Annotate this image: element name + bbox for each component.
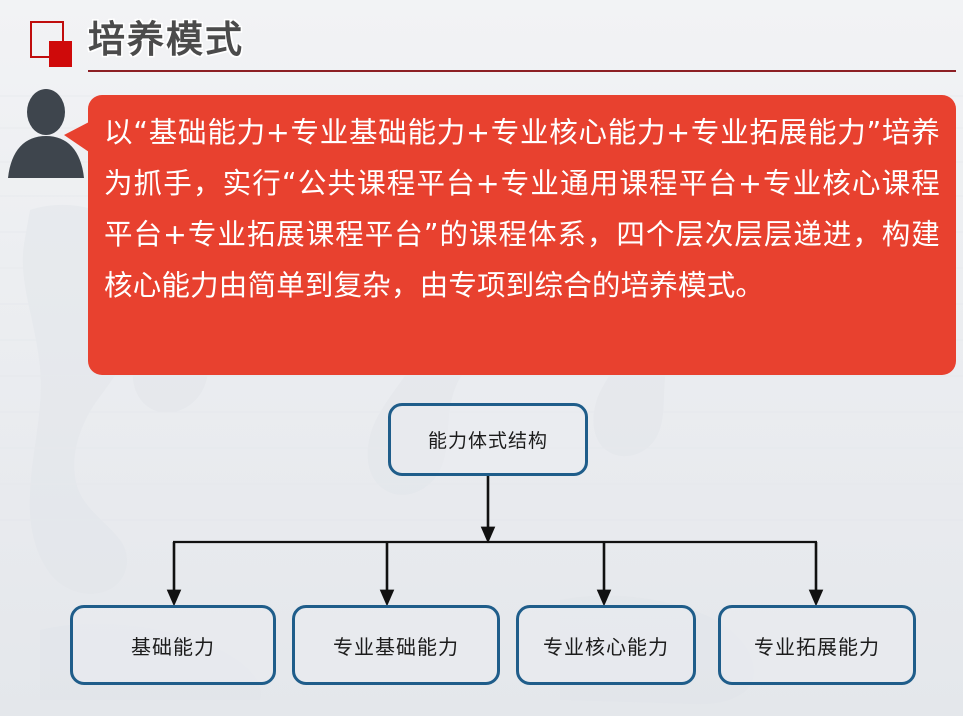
callout-text: 以“基础能力+专业基础能力+专业核心能力+专业拓展能力”培养为抓手，实行“公共课… — [104, 107, 940, 311]
speech-bubble-tail — [64, 122, 89, 152]
diagram-node-label: 专业核心能力 — [543, 631, 669, 660]
title-underline-rule — [88, 70, 956, 72]
logo-filled-square — [49, 41, 72, 67]
diagram-node-root-label: 能力体式结构 — [428, 426, 548, 453]
capability-structure-diagram: 能力体式结构 基础能力 专业基础能力 专业核心能力 专业拓展能力 — [0, 385, 963, 716]
diagram-node-label: 基础能力 — [131, 631, 215, 660]
diagram-node-professional-core-capability[interactable]: 专业核心能力 — [516, 605, 696, 685]
diagram-node-professional-extension-capability[interactable]: 专业拓展能力 — [718, 605, 916, 685]
diagram-node-root[interactable]: 能力体式结构 — [388, 403, 588, 476]
diagram-node-professional-basic-capability[interactable]: 专业基础能力 — [292, 605, 500, 685]
logo-mark — [30, 21, 72, 67]
slide-canvas: 培养模式 以“基础能力+专业基础能力+专业核心能力+专业拓展能力”培养为抓手，实… — [0, 0, 963, 716]
page-title: 培养模式 — [88, 17, 244, 63]
diagram-node-label: 专业基础能力 — [333, 631, 459, 660]
diagram-node-basic-capability[interactable]: 基础能力 — [70, 605, 276, 685]
speech-bubble-callout: 以“基础能力+专业基础能力+专业核心能力+专业拓展能力”培养为抓手，实行“公共课… — [88, 95, 956, 375]
diagram-node-label: 专业拓展能力 — [754, 631, 880, 660]
